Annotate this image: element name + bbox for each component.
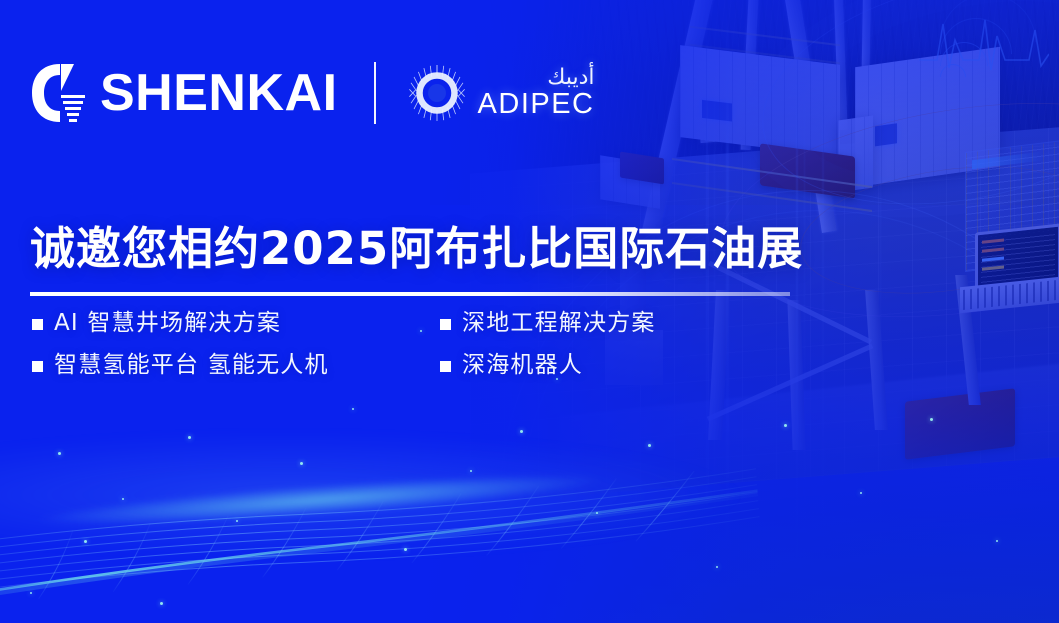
shenkai-wordmark: SHENKAI [100,67,338,119]
adipec-logo: أديبك ADIPEC [408,64,595,122]
promo-banner: SHENKAI [0,0,1059,623]
banner-content: SHENKAI [0,0,1059,623]
logo-bar: SHENKAI [30,62,595,124]
list-item: 深海机器人 [440,354,780,377]
adipec-arabic-label: أديبك [478,67,595,89]
adipec-radial-burst-icon [408,64,466,122]
adipec-wordmark: أديبك ADIPEC [478,67,595,119]
list-item-label: 智慧氢能平台 氢能无人机 [54,354,329,377]
square-bullet-icon [440,319,451,330]
horizontal-rule-icon [30,292,790,296]
list-item: 智慧氢能平台 氢能无人机 [32,354,440,377]
feature-list: AI 智慧井场解决方案 深地工程解决方案 智慧氢能平台 氢能无人机 深海机器人 [32,312,792,396]
list-row: 智慧氢能平台 氢能无人机 深海机器人 [32,354,792,396]
list-item-label: 深地工程解决方案 [462,312,656,335]
vertical-divider-icon [374,62,376,124]
list-item: AI 智慧井场解决方案 [32,312,440,335]
list-item-label: AI 智慧井场解决方案 [54,312,281,335]
adipec-latin-label: ADIPEC [478,90,595,119]
square-bullet-icon [440,361,451,372]
list-row: AI 智慧井场解决方案 深地工程解决方案 [32,312,792,354]
list-item: 深地工程解决方案 [440,312,780,335]
page-title: 诚邀您相约2025阿布扎比国际石油展 [30,224,803,274]
list-item-label: 深海机器人 [462,354,583,377]
square-bullet-icon [32,319,43,330]
shenkai-sk-monogram-icon [30,62,86,124]
square-bullet-icon [32,361,43,372]
